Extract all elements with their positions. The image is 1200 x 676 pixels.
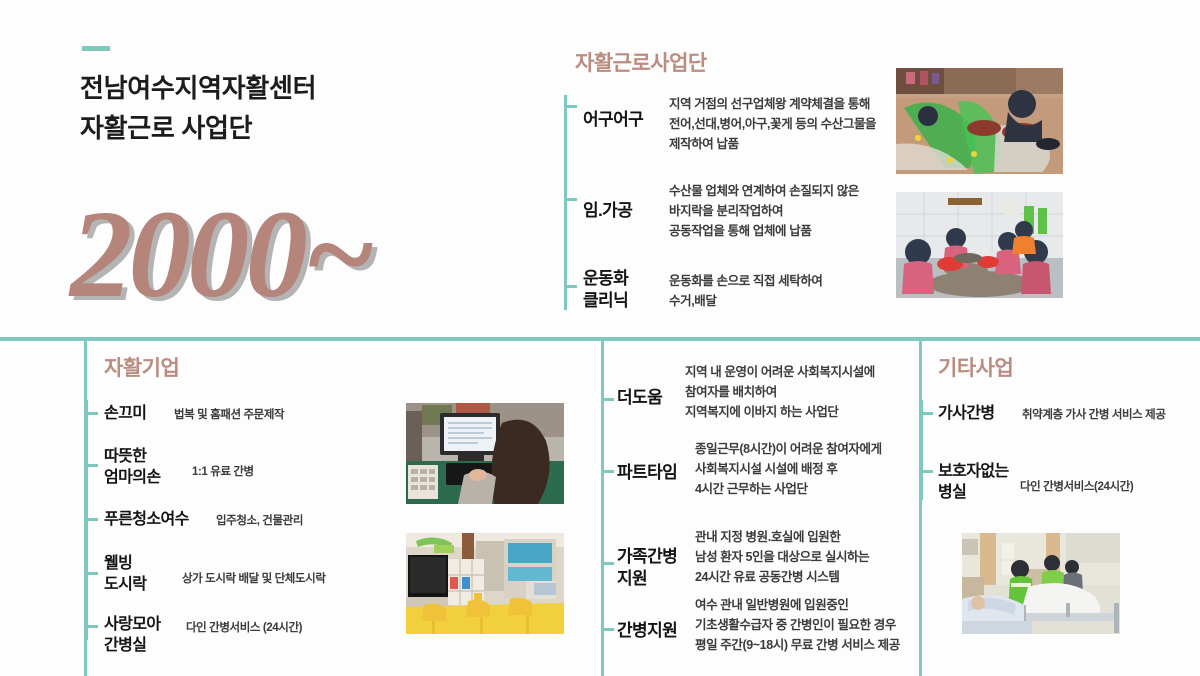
entry-desc: 여수 관내 일반병원에 입원중인 기초생활수급자 중 간병인이 필요한 경우 평… <box>695 596 950 655</box>
entry-name: 가족간병 지원 <box>617 546 677 591</box>
tree-tick <box>85 572 98 575</box>
photo-fishing-net <box>896 68 1063 174</box>
entry-name: 보호자없는 병실 <box>938 461 1009 503</box>
entry-name: 더도움 <box>617 387 662 409</box>
tree-tick <box>601 470 614 473</box>
tree-tick <box>601 398 614 401</box>
tree-tick <box>920 470 933 473</box>
tree-tick <box>601 628 614 631</box>
tree-tick <box>85 412 98 415</box>
entry-desc: 종일근무(8시간)이 어려운 참여자에게 사회복지시설 시설에 배정 후 4시간… <box>695 440 940 499</box>
panel-title-jahwal-gieop: 자활기업 <box>104 352 179 382</box>
page-title-line1: 전남여수지역자활센터 <box>80 73 316 103</box>
accent-dash-icon <box>82 46 110 51</box>
photo-computer-work <box>406 403 564 504</box>
tree-tick <box>920 412 933 415</box>
entry-name: 임.가공 <box>583 200 632 222</box>
tree-spine-gita <box>920 400 923 500</box>
entry-name: 푸른청소여수 <box>104 509 189 530</box>
entry-name: 가사간병 <box>938 403 994 424</box>
entry-name: 운동화 클리닉 <box>583 268 628 313</box>
photo-shellfish-sorting <box>896 192 1063 298</box>
divider-horizontal <box>0 337 1200 341</box>
entry-name: 사랑모아 간병실 <box>104 614 160 656</box>
slide-canvas: 전남여수지역자활센터 자활근로 사업단 2000~ 자활근로사업단 어구어구 지… <box>0 0 1200 676</box>
entry-desc: 관내 지정 병원.호실에 입원한 남성 환자 5인을 대상으로 실시하는 24시… <box>695 528 940 587</box>
entry-desc: 지역 내 운영이 어려운 사회복지시설에 참여자를 배치하여 지역복지에 이바지… <box>685 363 935 422</box>
panel-title-jahwal-geunro: 자활근로사업단 <box>575 47 707 77</box>
photo-care-classroom <box>406 533 564 634</box>
tree-tick <box>85 464 98 467</box>
tree-tick <box>564 198 577 201</box>
entry-desc: 다인 간병서비스(24시간) <box>1020 478 1190 496</box>
page-title: 전남여수지역자활센터 자활근로 사업단 <box>80 68 510 149</box>
tree-spine-center <box>601 370 604 646</box>
entry-name: 손끄미 <box>104 403 146 424</box>
tree-tick <box>85 518 98 521</box>
year-big-number: 2000~ <box>70 190 490 320</box>
tree-tick <box>564 285 577 288</box>
entry-desc: 상가 도시락 배달 및 단체도시락 <box>182 570 414 588</box>
entry-name: 어구어구 <box>583 109 643 131</box>
entry-desc: 운동화를 손으로 직접 세탁하여 수거,배달 <box>669 272 914 312</box>
entry-name: 파트타임 <box>617 462 677 484</box>
entry-desc: 1:1 유료 간병 <box>192 463 402 481</box>
photo-hospital-care <box>962 533 1120 634</box>
entry-desc: 입주청소, 건물관리 <box>216 512 406 530</box>
entry-desc: 지역 거점의 선구업체왕 계약체결을 통해 전어,선대,병어,아구,꽃게 등의 … <box>669 95 914 154</box>
entry-desc: 다인 간병서비스 (24시간) <box>186 619 401 637</box>
tree-spine-jahwal-geunro <box>564 95 567 310</box>
tree-tick <box>85 625 98 628</box>
entry-desc: 법복 및 홈패션 주문제작 <box>174 406 404 424</box>
entry-name: 따뜻한 엄마의손 <box>104 446 160 488</box>
tree-tick <box>601 562 614 565</box>
entry-name: 간병지원 <box>617 620 677 642</box>
entry-desc: 수산물 업체와 연계하여 손질되지 않은 바지락을 분리작업하여 공동작업을 통… <box>669 182 914 241</box>
page-title-line2: 자활근로 사업단 <box>80 108 510 148</box>
tree-tick <box>564 105 577 108</box>
entry-name: 웰빙 도시락 <box>104 553 146 595</box>
entry-desc: 취약계층 가사 간병 서비스 제공 <box>1022 406 1192 424</box>
panel-title-gita: 기타사업 <box>938 352 1013 382</box>
